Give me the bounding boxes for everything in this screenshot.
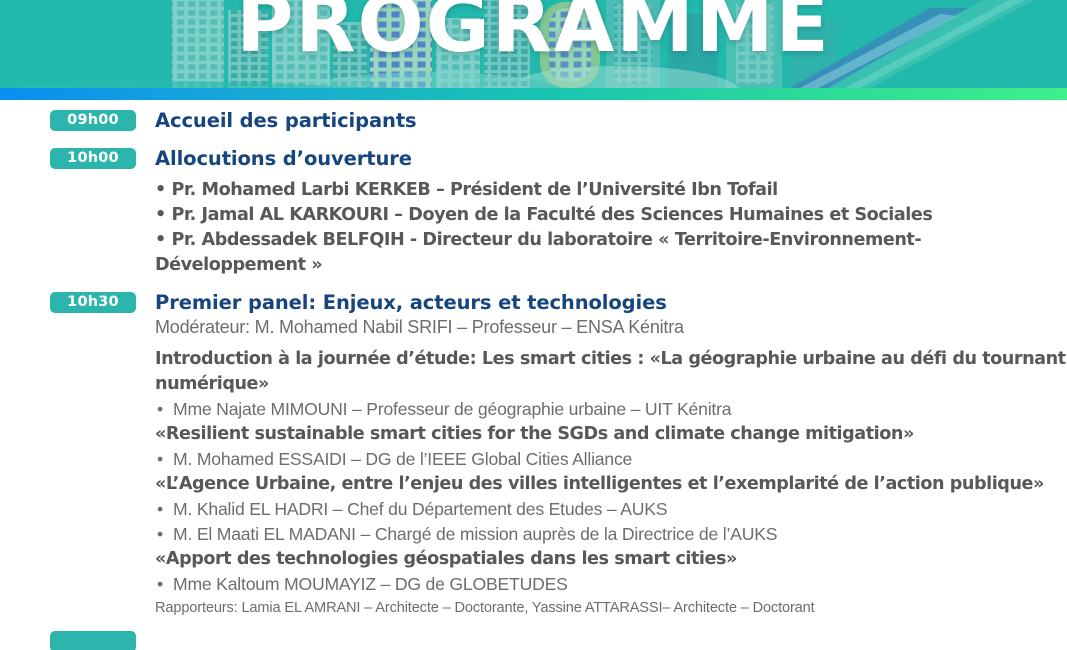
speaker-line: •M. Khalid EL HADRI – Chef du Départemen… (155, 497, 1067, 522)
bullet-icon: • (157, 497, 173, 522)
talk-title: «Apport des technologies géospatiales da… (155, 547, 1067, 572)
list-item: • Pr. Mohamed Larbi KERKEB – Président d… (155, 178, 1067, 203)
talk-title: «Resilient sustainable smart cities for … (155, 422, 1067, 447)
programme-poster: PROGRAMME 09h00 Accueil des participants… (0, 0, 1067, 650)
bullet-icon: • (157, 447, 173, 472)
gradient-divider (0, 88, 1067, 100)
speaker-name: M. Khalid EL HADRI – Chef du Département… (173, 499, 667, 519)
speaker-name: M. El Maati EL MADANI – Chargé de missio… (173, 524, 777, 544)
time-badge-partial (50, 631, 136, 650)
list-item: • Pr. Jamal AL KARKOURI – Doyen de la Fa… (155, 203, 1067, 228)
speaker-line: •Mme Kaltoum MOUMAYIZ – DG de GLOBETUDES (155, 572, 1067, 597)
moderator-line: Modérateur: M. Mohamed Nabil SRIFI – Pro… (155, 314, 1067, 341)
bullet-icon: • (157, 522, 173, 547)
bullet-icon: • (157, 397, 173, 422)
speaker-name: M. Mohamed ESSAIDI – DG de l’IEEE Global… (173, 449, 632, 469)
list-item: • Pr. Abdessadek BELFQIH - Directeur du … (155, 228, 1067, 278)
time-badge: 10h30 (50, 292, 136, 313)
speaker-name: Mme Najate MIMOUNI – Professeur de géogr… (173, 399, 731, 419)
speaker-line: •M. El Maati EL MADANI – Chargé de missi… (155, 522, 1067, 547)
talk-title: Introduction à la journée d’étude: Les s… (155, 347, 1067, 397)
slot-title-partial (155, 631, 1067, 650)
schedule-row: 10h30 Premier panel: Enjeux, acteurs et … (0, 292, 1067, 619)
rapporteurs-line: Rapporteurs: Lamia EL AMRANI – Architect… (155, 597, 1067, 619)
schedule-row-partial (0, 631, 1067, 650)
poster-header: PROGRAMME (0, 0, 1067, 88)
speaker-line: •Mme Najate MIMOUNI – Professeur de géog… (155, 397, 1067, 422)
time-badge: 09h00 (50, 110, 136, 131)
talk-title: «L’Agence Urbaine, entre l’enjeu des vil… (155, 472, 1067, 497)
time-badge: 10h00 (50, 148, 136, 169)
speaker-line: •M. Mohamed ESSAIDI – DG de l’IEEE Globa… (155, 447, 1067, 472)
schedule-row: 10h00 Allocutions d’ouverture • Pr. Moha… (0, 148, 1067, 278)
page-title: PROGRAMME (0, 0, 1067, 64)
schedule-row: 09h00 Accueil des participants (0, 110, 1067, 132)
slot-title: Allocutions d’ouverture (155, 148, 1067, 170)
programme-content: 09h00 Accueil des participants 10h00 All… (0, 100, 1067, 650)
bullet-icon: • (157, 572, 173, 597)
speaker-name: Mme Kaltoum MOUMAYIZ – DG de GLOBETUDES (173, 574, 568, 594)
slot-title: Premier panel: Enjeux, acteurs et techno… (155, 292, 1067, 314)
slot-title: Accueil des participants (155, 110, 1067, 132)
